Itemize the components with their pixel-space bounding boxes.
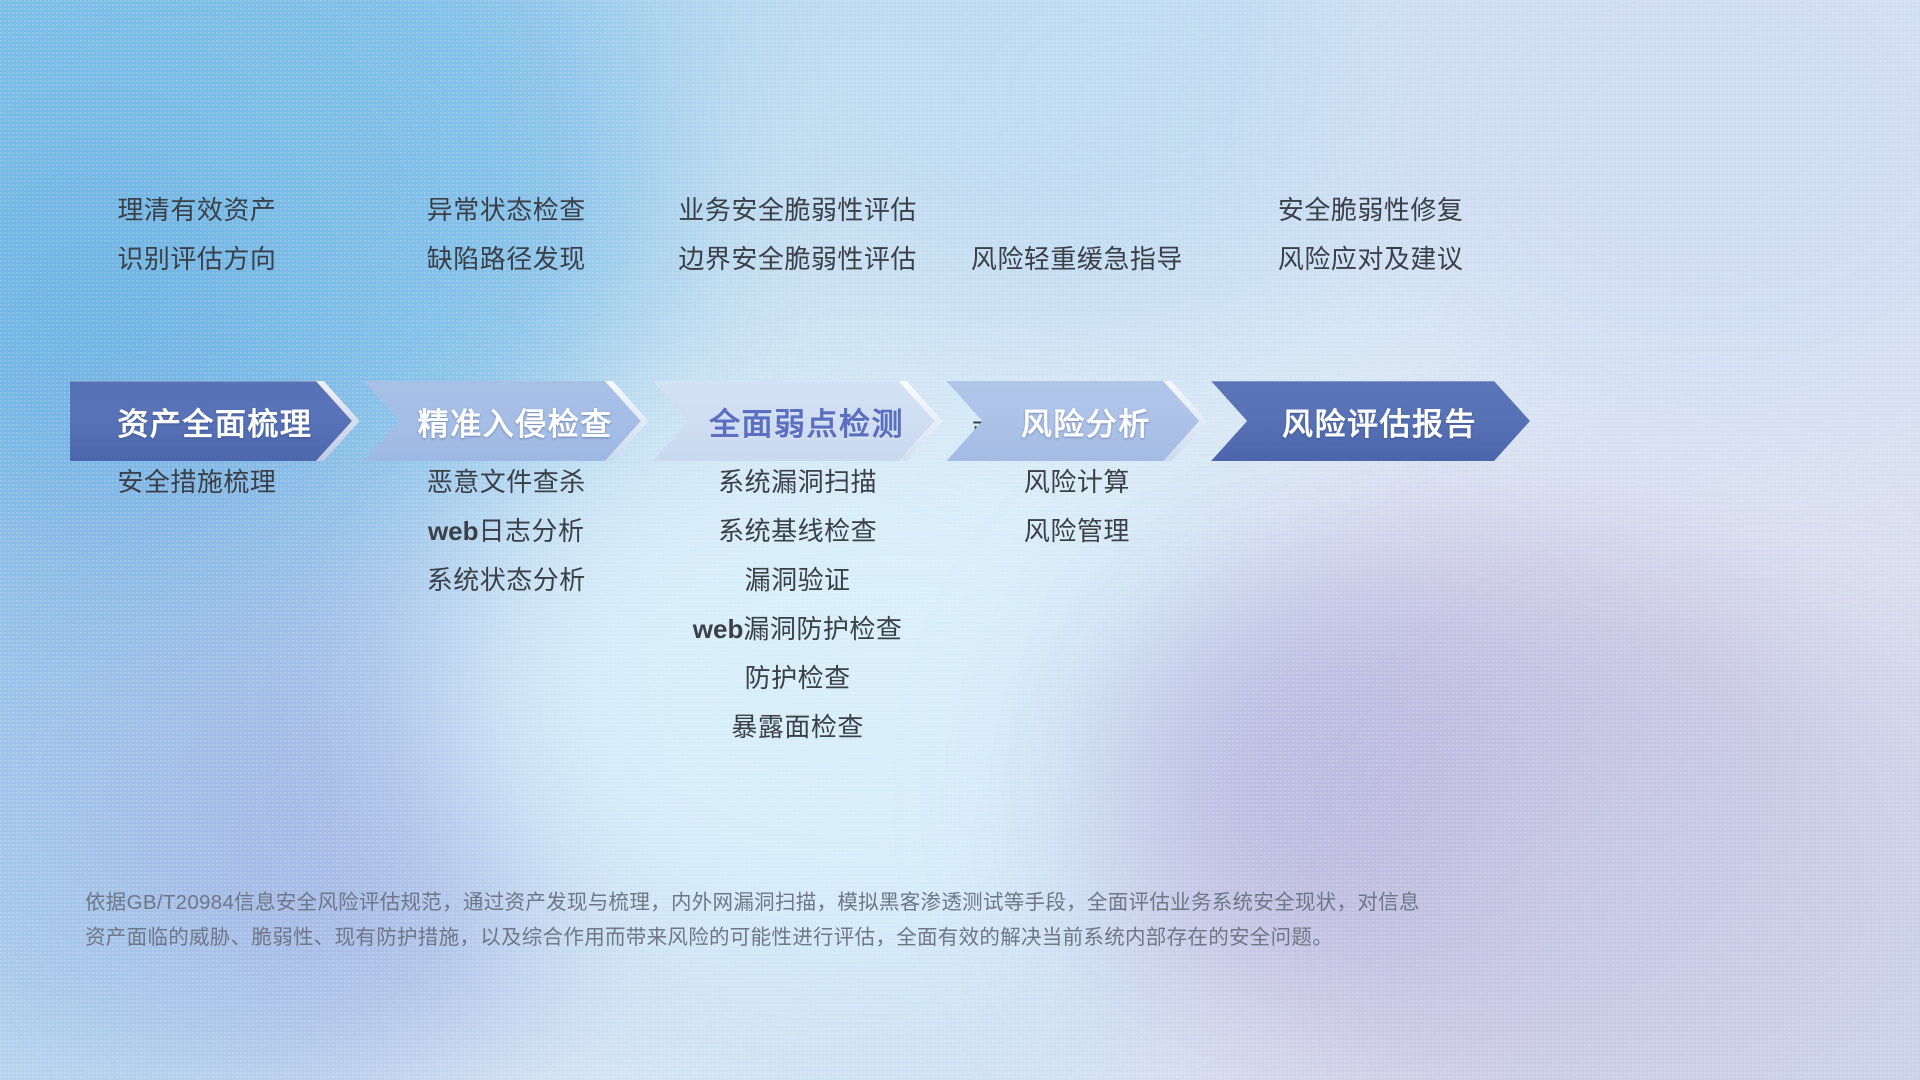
bottom-item: 系统基线检查 (718, 507, 877, 556)
slide-canvas: 理清有效资产识别评估方向异常状态检查缺陷路径发现业务安全脆弱性评估边界安全脆弱性… (0, 0, 1920, 1080)
bottom-item: 暴露面检查 (731, 703, 864, 752)
bottom-item: 风险计算 (1024, 458, 1130, 507)
arrow-stage-weakness-detection[interactable]: 全面弱点检测 (653, 381, 943, 461)
bottom-item: 防护检查 (745, 654, 851, 703)
arrow-stage-title: 精准入侵检查 (418, 399, 613, 444)
bottom-item: web日志分析 (428, 507, 585, 556)
bottom-item-text: 日志分析 (479, 516, 585, 546)
arrow-stage-title: 资产全面梳理 (117, 399, 312, 444)
bottom-item-text: 暴露面检查 (731, 712, 864, 742)
bottom-item: web漏洞防护检查 (693, 605, 903, 654)
slide-content: 理清有效资产识别评估方向异常状态检查缺陷路径发现业务安全脆弱性评估边界安全脆弱性… (0, 0, 1920, 1080)
arrow-stage-risk-analysis[interactable]: 风险分析 (946, 381, 1207, 461)
bottom-item-text: 系统基线检查 (718, 516, 877, 546)
bottom-item-text: 漏洞验证 (745, 565, 851, 595)
process-arrow-banner: 资产全面梳理精准入侵检查全面弱点检测风险分析风险评估报告 (70, 381, 1530, 461)
bottom-item: 漏洞验证 (745, 556, 851, 605)
top-item: 安全脆弱性修复 (1278, 186, 1464, 235)
arrow-stage-title: 风险分析 (1021, 399, 1151, 444)
arrow-stage-intrusion-check[interactable]: 精准入侵检查 (364, 381, 649, 461)
top-item: 缺陷路径发现 (427, 235, 586, 284)
footer-line-1: 依据GB/T20984信息安全风险评估规范，通过资产发现与梳理，内外网漏洞扫描，… (85, 885, 1625, 920)
arrow-stage-asset-inventory[interactable]: 资产全面梳理 (70, 381, 360, 461)
arrow-stage-title: 风险评估报告 (1282, 399, 1477, 444)
top-item: 业务安全脆弱性评估 (678, 186, 917, 235)
bottom-item: 恶意文件查杀 (427, 458, 586, 507)
top-item: 识别评估方向 (117, 235, 276, 284)
bottom-item-latin-prefix: web (693, 614, 744, 644)
arrow-stage-risk-report[interactable]: 风险评估报告 (1211, 381, 1530, 461)
bottom-item: 系统状态分析 (427, 556, 586, 605)
top-item: 理清有效资产 (117, 186, 276, 235)
bottom-item: 安全措施梳理 (117, 458, 276, 507)
top-item: 边界安全脆弱性评估 (678, 235, 917, 284)
top-item: 异常状态检查 (427, 186, 586, 235)
bottom-item-text: 系统漏洞扫描 (718, 467, 877, 497)
top-item: 风险应对及建议 (1278, 235, 1464, 284)
bottom-item-text: 漏洞防护检查 (743, 614, 902, 644)
bottom-item-text: 安全措施梳理 (117, 467, 276, 497)
bottom-item-text: 防护检查 (745, 663, 851, 693)
bottom-item-text: 恶意文件查杀 (427, 467, 586, 497)
bottom-item: 风险管理 (1024, 507, 1130, 556)
top-item: 风险轻重缓急指导 (971, 235, 1183, 284)
footer-line-2: 资产面临的威胁、脆弱性、现有防护措施，以及综合作用而带来风险的可能性进行评估，全… (85, 920, 1625, 955)
bottom-item: 系统漏洞扫描 (718, 458, 877, 507)
bottom-item-text: 风险计算 (1024, 467, 1130, 497)
footer-description: 依据GB/T20984信息安全风险评估规范，通过资产发现与梳理，内外网漏洞扫描，… (85, 885, 1625, 955)
bottom-item-text: 系统状态分析 (427, 565, 586, 595)
arrow-stage-title: 全面弱点检测 (709, 399, 904, 444)
bottom-item-latin-prefix: web (428, 516, 479, 546)
bottom-item-text: 风险管理 (1024, 516, 1130, 546)
